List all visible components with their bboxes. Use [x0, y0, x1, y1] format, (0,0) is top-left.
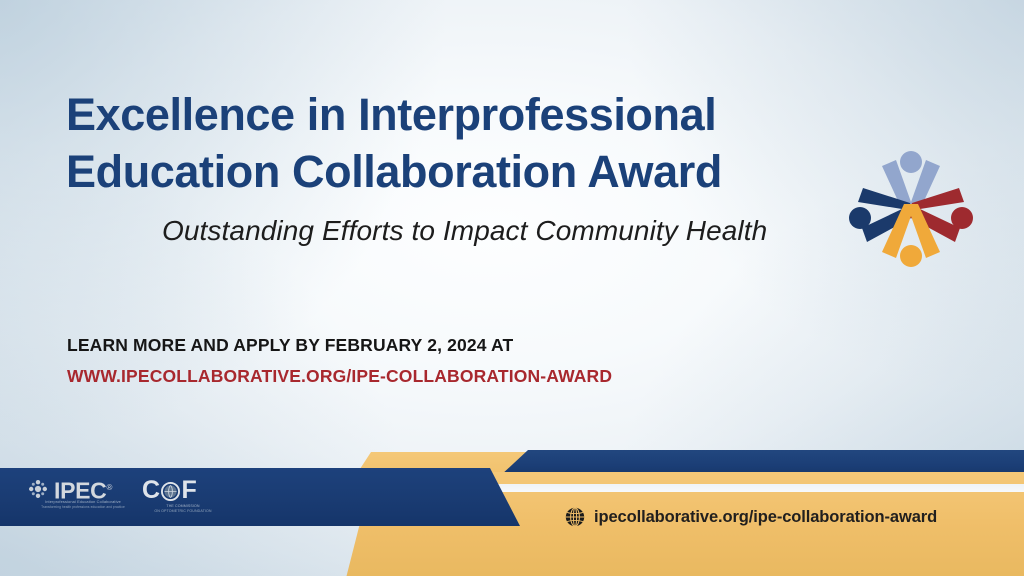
cta-url-link[interactable]: WWW.IPECOLLABORATIVE.ORG/IPE-COLLABORATI… — [67, 364, 612, 388]
footer-url-text[interactable]: ipecollaborative.org/ipe-collaboration-a… — [594, 507, 937, 527]
cof-tagline-secondary: ON OPTOMETRIC FOUNDATION — [140, 509, 226, 514]
page-title-line-2: Education Collaboration Award — [66, 143, 836, 200]
cof-globe-icon — [161, 481, 180, 500]
headline-block: Excellence in Interprofessional Educatio… — [66, 86, 836, 248]
award-announcement-slide: Excellence in Interprofessional Educatio… — [0, 0, 1024, 576]
ipec-tagline: Interprofessional Education Collaborativ… — [30, 499, 136, 505]
ipec-tagline-secondary: Transforming health professions educatio… — [30, 505, 136, 510]
globe-icon — [565, 507, 585, 527]
cof-logo: C F — [142, 478, 197, 503]
cof-letter-c: C — [142, 478, 160, 503]
footer-url-row[interactable]: ipecollaborative.org/ipe-collaboration-a… — [565, 507, 937, 527]
ipec-people-circle-mark — [846, 146, 976, 272]
page-title-line-1: Excellence in Interprofessional — [66, 86, 836, 143]
call-to-action-block: LEARN MORE AND APPLY BY FEBRUARY 2, 2024… — [67, 333, 612, 388]
ipec-quatrefoil-icon — [28, 479, 48, 499]
cta-deadline-text: LEARN MORE AND APPLY BY FEBRUARY 2, 2024… — [67, 333, 612, 357]
cof-wordmark: C F — [142, 478, 197, 503]
cof-letter-f: F — [181, 478, 197, 503]
people-figure-bottom-icon — [882, 204, 940, 267]
page-subtitle: Outstanding Efforts to Impact Community … — [162, 214, 836, 248]
ipec-registered-mark: ® — [106, 483, 112, 492]
